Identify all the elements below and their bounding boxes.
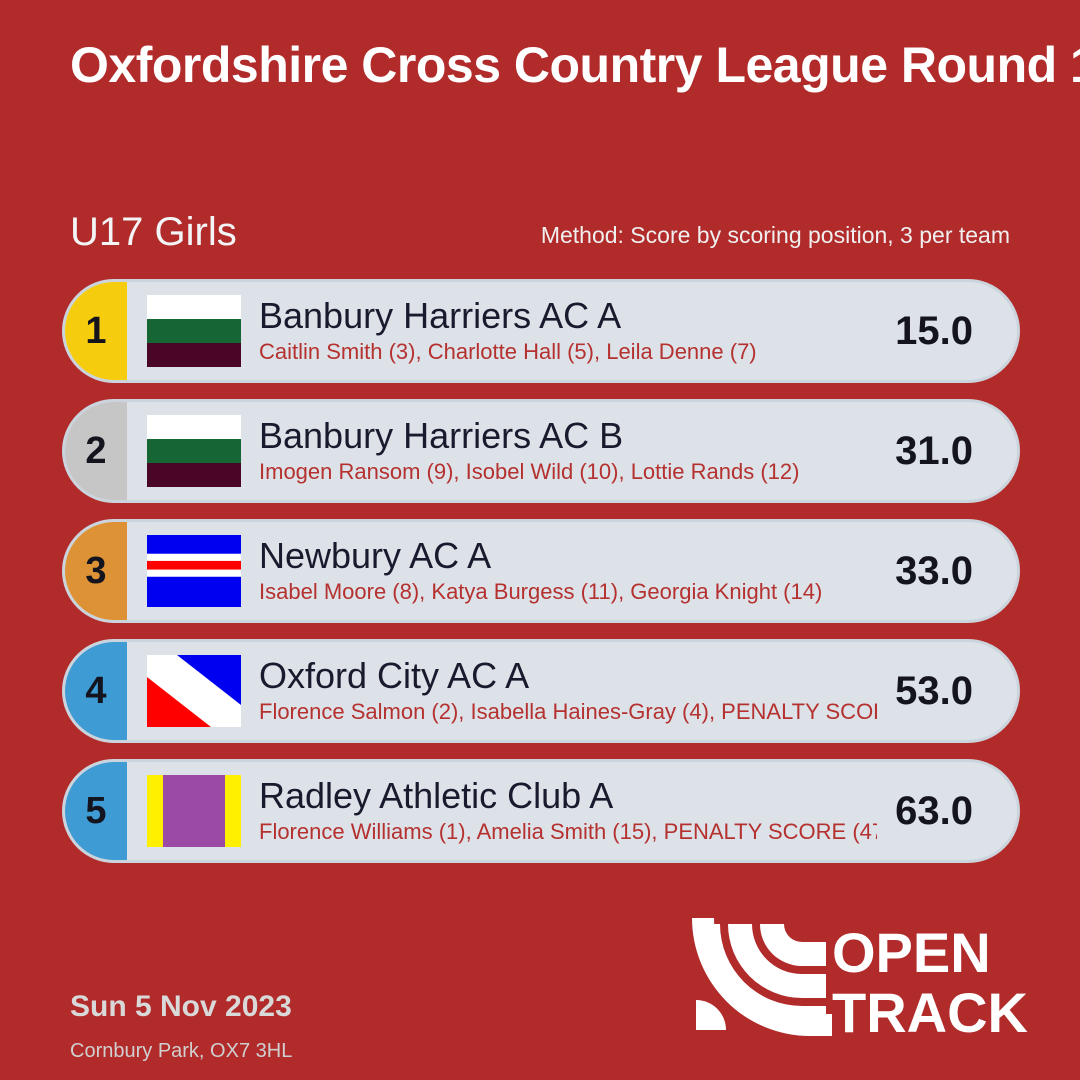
team-score: 53.0	[885, 669, 1017, 714]
team-athletes: Florence Williams (1), Amelia Smith (15)…	[259, 817, 877, 847]
flag-banbury-harriers-icon	[147, 415, 241, 487]
team-block: Banbury Harriers AC BImogen Ransom (9), …	[259, 415, 885, 487]
flag-newbury-ac-icon	[147, 535, 241, 607]
result-poster: Oxfordshire Cross Country League Round 1…	[0, 0, 1080, 1080]
age-category-title: U17 Girls	[70, 208, 237, 256]
results-list: 1Banbury Harriers AC ACaitlin Smith (3),…	[62, 279, 1020, 879]
team-block: Oxford City AC AFlorence Salmon (2), Isa…	[259, 655, 885, 727]
event-venue: Cornbury Park, OX7 3HL	[70, 1038, 292, 1064]
result-row[interactable]: 5Radley Athletic Club AFlorence Williams…	[62, 759, 1020, 863]
flag-radley-athletic-club-icon	[147, 775, 241, 847]
opentrack-logo: OPEN TRACK	[686, 912, 1046, 1044]
result-row[interactable]: 3Newbury AC AIsabel Moore (8), Katya Bur…	[62, 519, 1020, 623]
result-row[interactable]: 4Oxford City AC AFlorence Salmon (2), Is…	[62, 639, 1020, 743]
scoring-method-note: Method: Score by scoring position, 3 per…	[541, 220, 1010, 250]
flag-banbury-harriers-icon	[147, 295, 241, 367]
team-score: 63.0	[885, 789, 1017, 834]
result-row[interactable]: 1Banbury Harriers AC ACaitlin Smith (3),…	[62, 279, 1020, 383]
team-name: Banbury Harriers AC A	[259, 295, 877, 337]
team-block: Radley Athletic Club AFlorence Williams …	[259, 775, 885, 847]
team-score: 31.0	[885, 429, 1017, 474]
rank-badge: 4	[65, 642, 127, 740]
team-name: Newbury AC A	[259, 535, 877, 577]
logo-text-track: TRACK	[832, 981, 1028, 1044]
team-athletes: Isabel Moore (8), Katya Burgess (11), Ge…	[259, 577, 877, 607]
team-score: 33.0	[885, 549, 1017, 594]
rank-badge: 1	[65, 282, 127, 380]
team-name: Oxford City AC A	[259, 655, 877, 697]
rank-badge: 3	[65, 522, 127, 620]
team-name: Banbury Harriers AC B	[259, 415, 877, 457]
event-date: Sun 5 Nov 2023	[70, 988, 292, 1026]
result-row[interactable]: 2Banbury Harriers AC BImogen Ransom (9),…	[62, 399, 1020, 503]
team-athletes: Florence Salmon (2), Isabella Haines-Gra…	[259, 697, 877, 727]
logo-text-open: OPEN	[832, 921, 991, 984]
rank-badge: 2	[65, 402, 127, 500]
team-name: Radley Athletic Club A	[259, 775, 877, 817]
team-block: Banbury Harriers AC ACaitlin Smith (3), …	[259, 295, 885, 367]
section-header: U17 Girls Method: Score by scoring posit…	[70, 208, 1010, 266]
team-athletes: Imogen Ransom (9), Isobel Wild (10), Lot…	[259, 457, 877, 487]
page-title: Oxfordshire Cross Country League Round 1	[70, 36, 1030, 94]
team-score: 15.0	[885, 309, 1017, 354]
track-arcs-icon	[696, 924, 826, 1030]
team-block: Newbury AC AIsabel Moore (8), Katya Burg…	[259, 535, 885, 607]
team-athletes: Caitlin Smith (3), Charlotte Hall (5), L…	[259, 337, 877, 367]
rank-badge: 5	[65, 762, 127, 860]
flag-oxford-city-ac-icon	[147, 655, 241, 727]
